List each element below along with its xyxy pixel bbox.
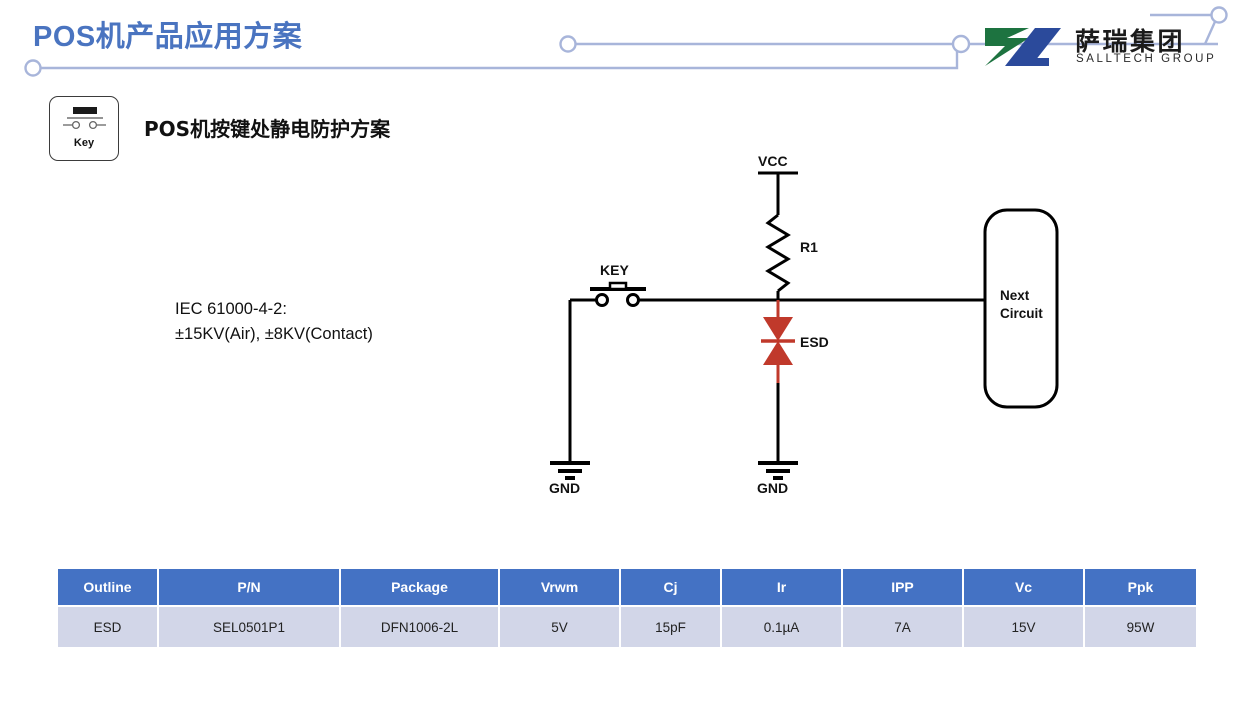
column-header-package: Package (340, 569, 499, 606)
cell-package: DFN1006-2L (340, 606, 499, 647)
column-header-ppk: Ppk (1084, 569, 1196, 606)
column-header-ipp: IPP (842, 569, 963, 606)
key-icon-label: Key (50, 137, 118, 149)
cell-ppk: 95W (1084, 606, 1196, 647)
next-circuit-label-line2: Circuit (1000, 306, 1043, 321)
key-icon-box: Key (49, 96, 119, 161)
column-header-ir: Ir (721, 569, 842, 606)
column-header-cj: Cj (620, 569, 721, 606)
label-vcc: VCC (758, 153, 788, 169)
label-esd: ESD (800, 334, 829, 350)
circuit-diagram: VCC R1 KEY ESD GND GND Next Circuit (520, 145, 1140, 505)
label-r1: R1 (800, 239, 818, 255)
cell-ipp: 7A (842, 606, 963, 647)
cell-ir: 0.1µA (721, 606, 842, 647)
cell-vc: 15V (963, 606, 1084, 647)
column-header-vrwm: Vrwm (499, 569, 620, 606)
cell-pn: SEL0501P1 (158, 606, 340, 647)
salltech-logo-mark-icon (983, 26, 1067, 68)
brand-logo: 萨瑞集团 SALLTECH GROUP (983, 24, 1201, 72)
label-gnd-left: GND (549, 480, 580, 496)
column-header-pn: P/N (158, 569, 340, 606)
cell-cj: 15pF (620, 606, 721, 647)
esd-standard-line1: IEC 61000-4-2: (175, 297, 373, 322)
table-row: ESD SEL0501P1 DFN1006-2L 5V 15pF 0.1µA 7… (58, 606, 1196, 647)
column-header-outline: Outline (58, 569, 158, 606)
logo-name-en: SALLTECH GROUP (1076, 53, 1216, 65)
next-circuit-label-line1: Next (1000, 288, 1030, 303)
esd-standard-line2: ±15KV(Air), ±8KV(Contact) (175, 322, 373, 347)
cell-vrwm: 5V (499, 606, 620, 647)
table-header-row: Outline P/N Package Vrwm Cj Ir IPP Vc Pp… (58, 569, 1196, 606)
page-header: POS机产品应用方案 萨瑞集团 SALLTECH GROUP (0, 0, 1253, 92)
cell-outline: ESD (58, 606, 158, 647)
spec-table: Outline P/N Package Vrwm Cj Ir IPP Vc Pp… (58, 569, 1196, 647)
label-gnd-right: GND (757, 480, 788, 496)
key-switch-icon (50, 97, 118, 142)
label-key: KEY (600, 262, 629, 278)
section-subtitle: POS机按键处静电防护方案 (144, 113, 390, 142)
column-header-vc: Vc (963, 569, 1084, 606)
esd-standard-note: IEC 61000-4-2: ±15KV(Air), ±8KV(Contact) (175, 297, 373, 347)
